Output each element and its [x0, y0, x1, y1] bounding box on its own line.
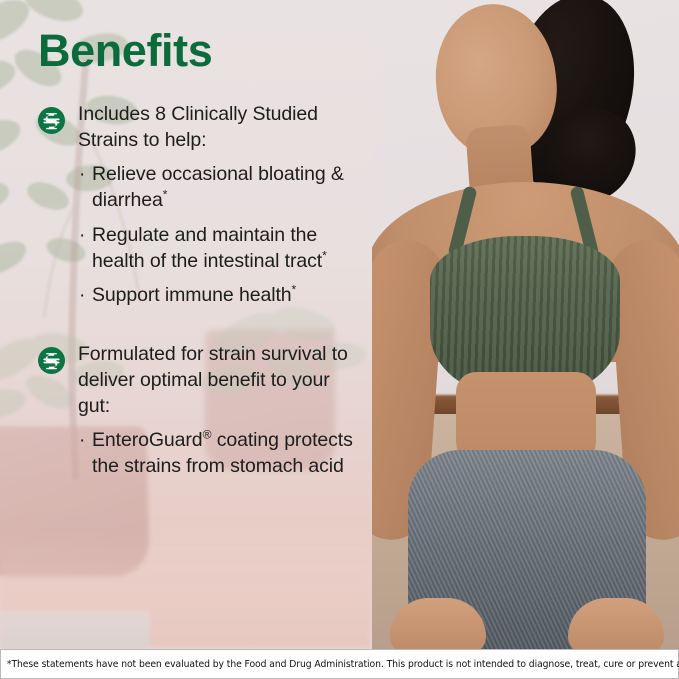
list-item: · Regulate and maintain the health of th…	[78, 223, 362, 274]
photo-left-hand	[390, 598, 486, 649]
gut-icon	[38, 107, 65, 134]
list-item: · Support immune health*	[78, 283, 362, 309]
photo-right-hand	[568, 598, 664, 649]
benefit-block-2-body: Formulated for strain survival to delive…	[78, 342, 362, 480]
bullet-marker-icon: ·	[79, 162, 90, 187]
product-benefits-infographic: Benefits Includes 8 Clinically Studied S…	[0, 0, 679, 679]
benefit-block-2: Formulated for strain survival to delive…	[38, 342, 362, 480]
bullet-marker-icon: ·	[79, 223, 90, 248]
list-item-text: Regulate and maintain the health of the …	[92, 223, 362, 274]
list-item: · EnteroGuard® coating protects the stra…	[78, 428, 362, 479]
disclaimer-bar: *These statements have not been evaluate…	[0, 649, 679, 679]
benefits-content: Benefits Includes 8 Clinically Studied S…	[0, 0, 372, 649]
gut-icon	[38, 347, 65, 374]
list-item: · Relieve occasional bloating & diarrhea…	[78, 162, 362, 213]
list-item-text: Relieve occasional bloating & diarrhea*	[92, 162, 362, 213]
lifestyle-photo	[372, 0, 679, 649]
benefit-lead-1: Includes 8 Clinically Studied Strains to…	[78, 102, 362, 153]
bullet-marker-icon: ·	[79, 428, 90, 453]
page-title: Benefits	[38, 28, 362, 73]
benefits-panel: Benefits Includes 8 Clinically Studied S…	[0, 0, 372, 649]
benefit-block-1: Includes 8 Clinically Studied Strains to…	[38, 102, 362, 309]
list-item-text: EnteroGuard® coating protects the strain…	[92, 428, 362, 479]
benefit-bullets-1: · Relieve occasional bloating & diarrhea…	[78, 162, 362, 309]
benefit-bullets-2: · EnteroGuard® coating protects the stra…	[78, 428, 362, 479]
benefit-lead-2: Formulated for strain survival to delive…	[78, 342, 362, 419]
list-item-text: Support immune health*	[92, 283, 362, 309]
benefit-block-1-body: Includes 8 Clinically Studied Strains to…	[78, 102, 362, 309]
bullet-marker-icon: ·	[79, 283, 90, 308]
disclaimer-text: *These statements have not been evaluate…	[1, 659, 679, 670]
